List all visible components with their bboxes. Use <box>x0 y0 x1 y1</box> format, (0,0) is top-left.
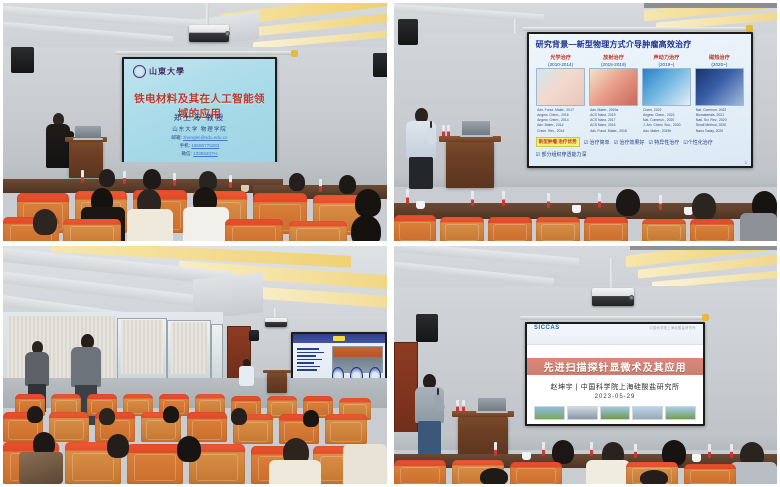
column-heading: 磁热治疗 <box>709 55 730 62</box>
auditorium-chair <box>488 217 532 241</box>
strip-photo <box>567 406 598 420</box>
strip-photo <box>632 406 663 420</box>
audience-head <box>107 434 129 458</box>
column-heading: 放射治疗 <box>603 55 624 62</box>
slide-highlight-tag <box>333 336 344 341</box>
strip-photo <box>600 406 631 420</box>
water-bottle <box>708 444 711 458</box>
advantage-item: ☑个性化治疗 <box>683 139 712 146</box>
water-bottle <box>542 442 545 456</box>
audience-head <box>616 189 640 216</box>
window-pane <box>211 324 223 380</box>
lower-wall <box>394 432 777 450</box>
screen-roller-cap <box>702 314 709 321</box>
slide-columns: 光学治疗 (2010-2014) Adv. Funct. Mater., 201… <box>536 55 745 137</box>
audience-head <box>27 406 43 423</box>
wall-speaker-left <box>11 47 34 73</box>
water-bottle <box>634 444 637 458</box>
projector-lens <box>225 31 230 36</box>
water-bottle <box>494 442 497 456</box>
strip-photo <box>665 406 696 420</box>
window-curtain <box>121 320 163 374</box>
slide-column: 声动力治疗 (2019~) Chem, 2022 Angew. Chem., 2… <box>642 55 692 137</box>
water-bottle <box>229 175 232 188</box>
auditorium-chair <box>289 221 347 241</box>
audience-head <box>640 470 668 484</box>
water-bottle <box>406 189 409 204</box>
column-figure <box>536 68 585 106</box>
water-bottle <box>502 191 505 206</box>
column-references: Nat. Commun. 2022 Biomaterials, 2021 Nat… <box>696 108 743 134</box>
auditorium-chair <box>325 414 367 444</box>
screen-roller <box>115 51 293 55</box>
water-bottle <box>123 171 126 184</box>
reference-line: Nano Today, 2020 <box>696 129 743 134</box>
water-bottle <box>456 400 459 412</box>
slide-advantages-bar: 新型肿瘤 治疗优势 ☑ 治疗简单 ☑ 治疗效果好 ☑ 特异性治疗 ☑个性化治疗 … <box>536 137 745 158</box>
contact-value: zhenglm@sdu.edu.cn <box>183 135 228 140</box>
column-figure <box>695 68 744 106</box>
auditorium-chair <box>510 462 562 484</box>
auditorium-chair <box>225 219 283 241</box>
audience-body <box>343 444 387 484</box>
projector <box>265 318 287 327</box>
slide-header: SICCAS 中国科学院上海硅酸盐研究所 <box>527 324 703 345</box>
speaker-body <box>239 366 254 386</box>
auditorium-chair <box>684 464 736 484</box>
standing-person-body <box>71 347 101 387</box>
projector-lens <box>629 295 634 300</box>
audience-body <box>127 209 173 241</box>
slide-presenter: 赵坤宇 | 中国科学院上海硅酸盐研究所 <box>527 382 703 392</box>
podium <box>69 142 103 178</box>
slide-org-text: 中国科学院上海硅酸盐研究所 <box>649 325 696 330</box>
audience-head <box>163 406 179 423</box>
photo-panel-top-left: 山東大學 铁电材料及其在人工智能领域的应用 郑上海 教授 山东大学 物理学院 邮… <box>3 3 387 241</box>
slide-author: 郑上海 教授 <box>124 112 275 123</box>
auditorium-chair <box>536 217 580 241</box>
projection-screen: 研究背景—新型物理方式介导肿瘤高效治疗 光学治疗 (2010-2014) Adv… <box>529 34 751 166</box>
reference-line: Adv. Funct. Mater., 2016 <box>590 129 637 134</box>
auditorium-chair <box>127 444 183 484</box>
contact-row: 手机: 18686776283 <box>124 142 275 150</box>
contact-value: 13355207% <box>193 151 218 156</box>
column-references: Adv. Mater., 2019a ACS Nano, 2019 ACS Na… <box>590 108 637 134</box>
audience-head <box>231 408 247 425</box>
advantage-item: ☑ 部分组织穿透能力深 <box>536 151 587 158</box>
water-bottle <box>730 444 733 458</box>
audience-head <box>351 215 381 241</box>
auditorium-chair <box>584 217 628 241</box>
column-references: Adv. Funct. Mater., 2017 Angew. Chem., 2… <box>537 108 584 134</box>
auditorium-chair <box>642 219 686 241</box>
audience-head <box>99 169 115 187</box>
auditorium-chair <box>394 460 446 484</box>
strip-photo <box>534 406 565 420</box>
projector-pole <box>206 3 209 27</box>
projection-screen-frame: SICCAS 中国科学院上海硅酸盐研究所 先进扫描探针显微术及其应用 赵坤宇 |… <box>525 322 705 426</box>
slide-title: 先进扫描探针显微术及其应用 <box>544 359 687 374</box>
screen-roller <box>520 316 706 320</box>
slide-column: 光学治疗 (2010-2014) Adv. Funct. Mater., 201… <box>536 55 586 137</box>
standing-person-body <box>25 352 49 386</box>
projector-pole <box>610 258 613 288</box>
audience-body <box>586 460 630 484</box>
water-bottle <box>173 173 176 186</box>
podium <box>446 142 494 188</box>
water-bottle <box>598 193 601 208</box>
slide-text-block <box>297 346 328 373</box>
auditorium-chair <box>63 219 121 241</box>
contact-label: 手机: <box>180 143 190 148</box>
window-curtain <box>171 322 207 374</box>
slide-page-number: 3 <box>745 161 747 165</box>
projection-screen: 山東大學 铁电材料及其在人工智能领域的应用 郑上海 教授 山东大学 物理学院 邮… <box>124 59 275 165</box>
advantages-badge: 新型肿瘤 治疗优势 <box>536 137 580 147</box>
screen-roller-cap <box>746 25 753 32</box>
slide-affiliation: 山东大学 物理学院 <box>124 125 275 133</box>
auditorium-chair <box>690 219 734 241</box>
photo-collage: 山東大學 铁电材料及其在人工智能领域的应用 郑上海 教授 山东大学 物理学院 邮… <box>0 0 780 487</box>
audience-head <box>177 436 201 462</box>
wall-speaker-right <box>249 330 259 341</box>
projector-pole <box>514 19 517 33</box>
tea-cup <box>416 201 425 209</box>
ceiling-dark-band <box>644 3 777 8</box>
column-years: (2015-2019) <box>601 62 626 67</box>
projection-screen-frame: 山東大學 铁电材料及其在人工智能领域的应用 郑上海 教授 山东大学 物理学院 邮… <box>122 57 277 167</box>
speaker-legs <box>409 157 433 189</box>
ceiling-dark-band <box>630 246 777 250</box>
auditorium-chair <box>440 217 484 241</box>
wall-speaker-left <box>416 314 438 342</box>
laptop-screen <box>462 121 490 136</box>
contact-value: 18686776283 <box>191 143 219 148</box>
advantage-item: ☑ 治疗效果好 <box>614 139 645 146</box>
column-heading: 声动力治疗 <box>653 55 679 62</box>
photo-panel-top-right: 研究背景—新型物理方式介导肿瘤高效治疗 光学治疗 (2010-2014) Adv… <box>394 3 777 241</box>
slide-university-logo: 山東大學 <box>133 65 185 78</box>
slide-title: 研究背景—新型物理方式介导肿瘤高效治疗 <box>536 39 745 50</box>
audience-head <box>289 173 305 191</box>
advantage-item: ☑ 治疗简单 <box>584 139 610 146</box>
water-bottle <box>590 442 593 456</box>
water-bottle <box>447 125 450 137</box>
projector-pole <box>274 308 277 318</box>
slide-logo-text: 山東大學 <box>149 66 185 77</box>
audience-body <box>730 462 777 484</box>
water-bottle <box>81 170 84 183</box>
slide-column: 放射治疗 (2015-2019) Adv. Mater., 2019a ACS … <box>589 55 639 137</box>
water-bottle <box>462 400 465 412</box>
backpack <box>19 452 63 484</box>
projector <box>189 25 229 42</box>
column-years: (2019~) <box>658 62 674 67</box>
contact-row: 微信: 13355207% <box>124 150 275 158</box>
podium <box>267 373 287 393</box>
advantage-item: ☑ 特异性治疗 <box>648 139 679 146</box>
audience-head <box>552 440 574 464</box>
slide-date: 2023-05-29 <box>527 394 703 400</box>
column-figure <box>589 68 638 106</box>
podium <box>458 417 508 459</box>
microphone <box>430 121 432 128</box>
reference-line: Adv. Mater., 2019b <box>643 129 690 134</box>
tea-cup <box>522 452 531 460</box>
slide-research-background: 研究背景—新型物理方式介导肿瘤高效治疗 光学治疗 (2010-2014) Adv… <box>529 34 751 166</box>
laptop-base <box>73 138 103 140</box>
audience-head <box>143 169 161 189</box>
column-figure <box>642 68 691 106</box>
laptop-screen <box>478 398 506 412</box>
microphone <box>437 388 439 395</box>
audience-head <box>33 209 57 235</box>
reference-line: Chem. Rev., 2014 <box>537 129 584 134</box>
contact-row: 邮箱: zhenglm@sdu.edu.cn <box>124 134 275 142</box>
wall-speaker-right <box>373 53 387 77</box>
slide-contacts: 邮箱: zhenglm@sdu.edu.cn 手机: 18686776283 微… <box>124 134 275 158</box>
water-bottle <box>659 195 662 210</box>
audience-body <box>740 213 777 241</box>
contact-label: 微信: <box>181 151 191 156</box>
photo-panel-bottom-left <box>3 246 387 484</box>
auditorium-chair <box>49 412 89 442</box>
auditorium-chair <box>394 215 436 241</box>
laptop-base <box>460 135 493 137</box>
audience-head <box>303 410 319 427</box>
screen-roller <box>522 27 754 31</box>
audience-head <box>339 175 356 194</box>
audience-body <box>183 207 229 241</box>
university-seal-icon <box>133 65 146 78</box>
column-years: (2020~) <box>711 62 727 67</box>
water-bottle <box>471 191 474 206</box>
column-heading: 光学治疗 <box>550 55 571 62</box>
screen-roller-cap <box>291 50 298 57</box>
speaker-legs <box>418 421 441 455</box>
projection-screen: SICCAS 中国科学院上海硅酸盐研究所 先进扫描探针显微术及其应用 赵坤宇 |… <box>527 324 703 424</box>
slide-column: 磁热治疗 (2020~) Nat. Commun. 2022 Biomateri… <box>694 55 744 137</box>
tea-cup <box>692 454 701 462</box>
wall-speaker-left <box>398 19 418 45</box>
audience-head <box>480 468 508 484</box>
tea-cup <box>572 205 581 213</box>
slide-photo-strip <box>534 406 696 420</box>
column-years: (2010-2014) <box>548 62 573 67</box>
laptop-base <box>476 411 508 413</box>
water-bottle <box>442 125 445 137</box>
slide-logo-text: SICCAS <box>534 325 560 331</box>
water-bottle <box>547 193 550 208</box>
audience-head <box>99 408 115 425</box>
audience-head <box>355 189 381 217</box>
projection-screen-frame: 研究背景—新型物理方式介导肿瘤高效治疗 光学治疗 (2010-2014) Adv… <box>527 32 753 168</box>
audience-head <box>692 193 716 220</box>
slide-title-band: 先进扫描探针显微术及其应用 <box>527 358 703 375</box>
slide-ferroelectric-title: 山東大學 铁电材料及其在人工智能领域的应用 郑上海 教授 山东大学 物理学院 邮… <box>124 59 275 165</box>
slide-spm-title: SICCAS 中国科学院上海硅酸盐研究所 先进扫描探针显微术及其应用 赵坤宇 |… <box>527 324 703 424</box>
audience-body <box>269 460 321 484</box>
water-bottle <box>319 179 322 192</box>
contact-label: 邮箱: <box>171 135 181 140</box>
photo-panel-bottom-right: SICCAS 中国科学院上海硅酸盐研究所 先进扫描探针显微术及其应用 赵坤宇 |… <box>394 246 777 484</box>
projector <box>592 288 634 306</box>
column-references: Chem, 2022 Angew. Chem., 2022 Nat. Commu… <box>643 108 690 134</box>
